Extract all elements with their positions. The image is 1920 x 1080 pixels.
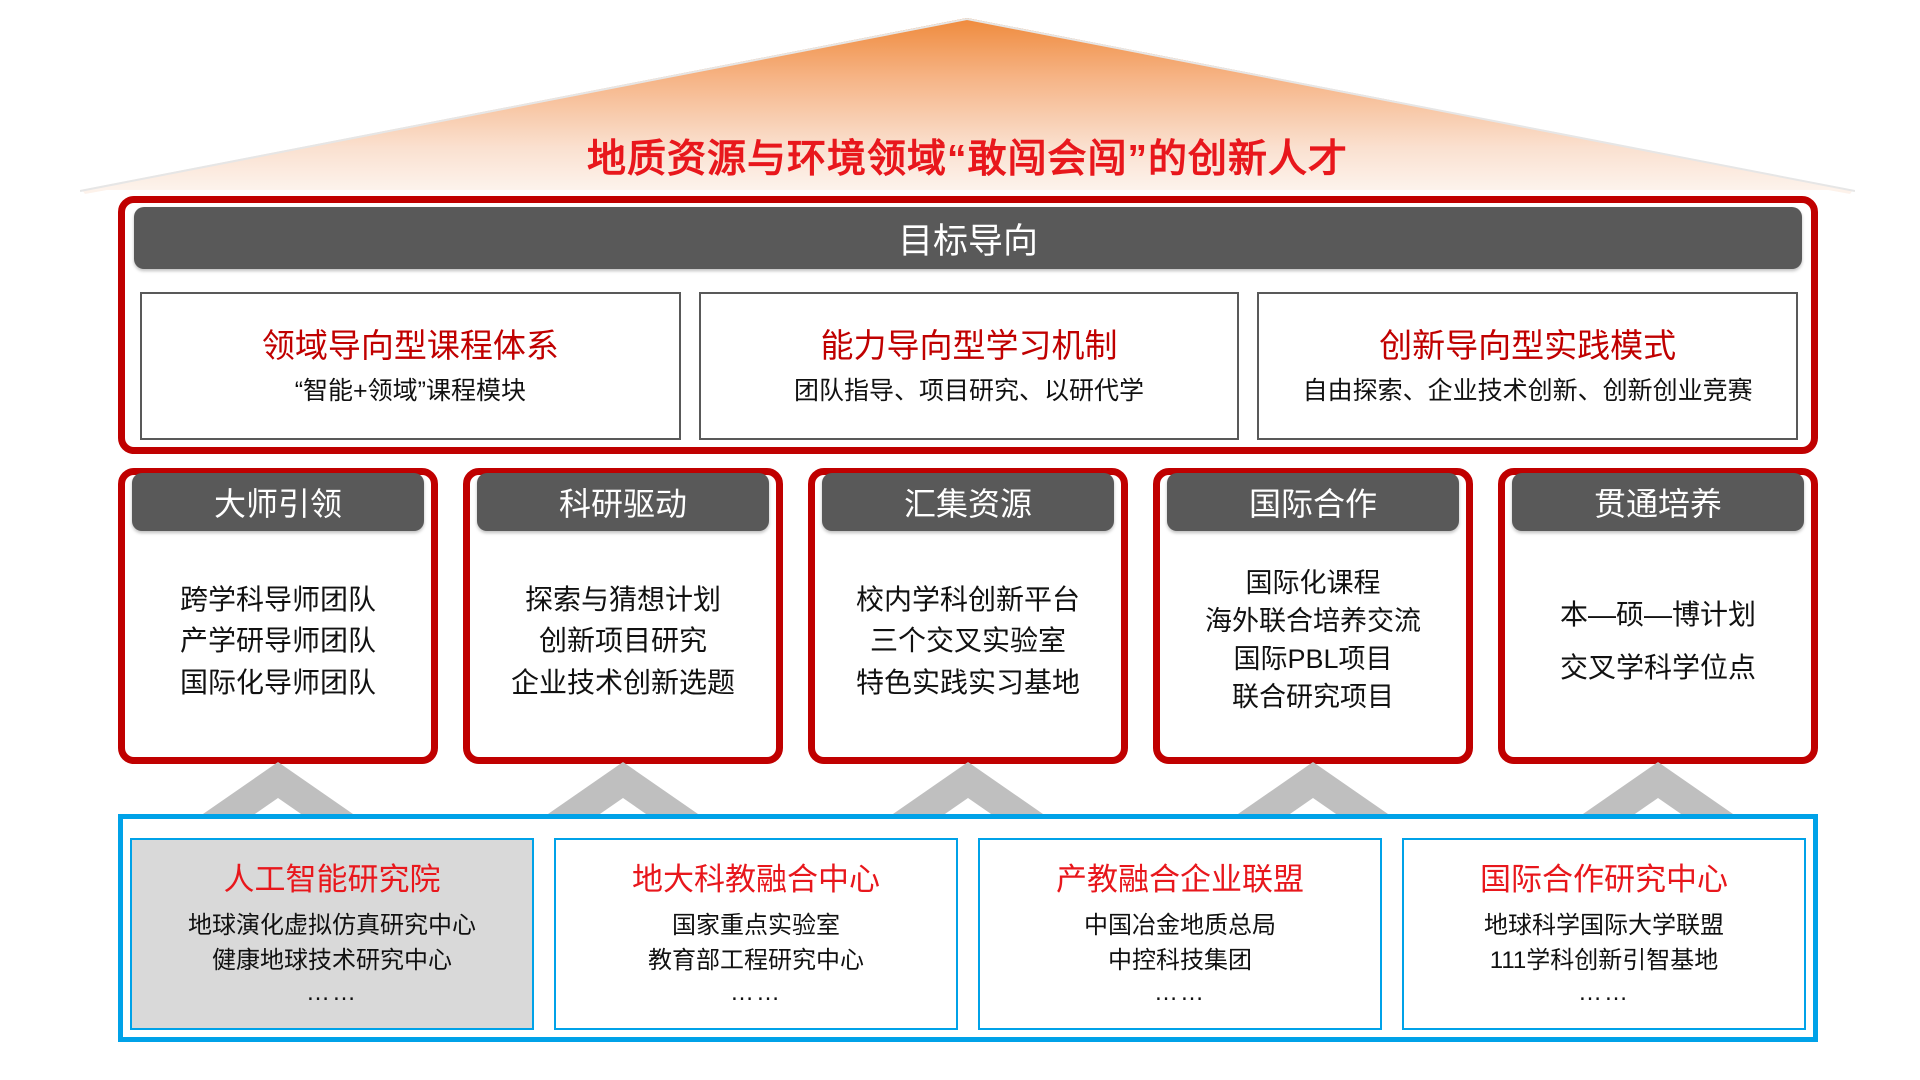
goal-card-subtitle: 自由探索、企业技术创新、创新创业竞赛 [1303,376,1753,407]
platform-card-ellipsis: …… [1578,979,1630,1007]
pillar-line: 特色实践实习基地 [856,662,1080,703]
platform-card-line: 国家重点实验室 [672,910,840,942]
pillar-header: 贯通培养 [1512,473,1804,531]
platform-card-line: 教育部工程研究中心 [648,945,864,977]
pillar-line: 探索与猜想计划 [525,579,721,620]
pillar-line: 企业技术创新选题 [511,662,735,703]
pillar-row: 大师引领 跨学科导师团队 产学研导师团队 国际化导师团队 科研驱动 探索与猜想计… [118,468,1818,764]
diagram-canvas: 地质资源与环境领域“敢闯会闯”的创新人才 目标导向 领域导向型课程体系 “智能+… [0,0,1920,1080]
pillar-resource-aggregation[interactable]: 汇集资源 校内学科创新平台 三个交叉实验室 特色实践实习基地 [808,468,1128,764]
pillar-line: 国际化课程 [1246,565,1381,603]
pillar-line: 校内学科创新平台 [856,579,1080,620]
pillar-research-driven[interactable]: 科研驱动 探索与猜想计划 创新项目研究 企业技术创新选题 [463,468,783,764]
pillar-master-leadership[interactable]: 大师引领 跨学科导师团队 产学研导师团队 国际化导师团队 [118,468,438,764]
goal-card-practice-model[interactable]: 创新导向型实践模式 自由探索、企业技术创新、创新创业竞赛 [1257,292,1798,440]
pillar-body: 探索与猜想计划 创新项目研究 企业技术创新选题 [470,531,776,757]
goal-card-title: 能力导向型学习机制 [821,325,1118,366]
goal-card-subtitle: “智能+领域”课程模块 [295,376,526,407]
pillar-line: 海外联合培养交流 [1205,603,1421,641]
platform-card-international-research-center[interactable]: 国际合作研究中心 地球科学国际大学联盟 111学科创新引智基地 …… [1402,838,1806,1030]
pillar-body: 本—硕—博计划 交叉学科学位点 [1505,531,1811,757]
goal-card-title: 创新导向型实践模式 [1379,325,1676,366]
platform-card-line: 111学科创新引智基地 [1490,945,1718,977]
goal-card-course-system[interactable]: 领域导向型课程体系 “智能+领域”课程模块 [140,292,681,440]
platform-card-line: 中控科技集团 [1108,945,1252,977]
pillar-line: 国际PBL项目 [1233,641,1392,679]
platform-card-line: 中国冶金地质总局 [1084,910,1276,942]
goal-card-row: 领域导向型课程体系 “智能+领域”课程模块 能力导向型学习机制 团队指导、项目研… [140,292,1798,440]
platform-card-title: 国际合作研究中心 [1480,861,1728,898]
platform-card-ellipsis: …… [730,979,782,1007]
pillar-body: 校内学科创新平台 三个交叉实验室 特色实践实习基地 [815,531,1121,757]
pillar-line: 跨学科导师团队 [180,579,376,620]
platform-card-industry-education-alliance[interactable]: 产教融合企业联盟 中国冶金地质总局 中控科技集团 …… [978,838,1382,1030]
platform-card-line: 地球科学国际大学联盟 [1484,910,1724,942]
platform-card-title: 地大科教融合中心 [632,861,880,898]
goal-card-subtitle: 团队指导、项目研究、以研代学 [794,376,1144,407]
pillar-line: 创新项目研究 [539,620,707,661]
pillar-header: 科研驱动 [477,473,769,531]
platform-card-title: 人工智能研究院 [224,861,441,898]
pillar-header: 大师引领 [132,473,424,531]
pillar-international-cooperation[interactable]: 国际合作 国际化课程 海外联合培养交流 国际PBL项目 联合研究项目 [1153,468,1473,764]
platform-card-title: 产教融合企业联盟 [1056,861,1304,898]
platform-card-ai-institute[interactable]: 人工智能研究院 地球演化虚拟仿真研究中心 健康地球技术研究中心 …… [130,838,534,1030]
pillar-line: 产学研导师团队 [180,620,376,661]
platform-card-ellipsis: …… [1154,979,1206,1007]
platform-card-line: 地球演化虚拟仿真研究中心 [188,910,476,942]
pillar-header: 汇集资源 [822,473,1114,531]
pillar-line: 交叉学科学位点 [1560,641,1756,694]
goal-card-title: 领域导向型课程体系 [262,325,559,366]
pillar-body: 国际化课程 海外联合培养交流 国际PBL项目 联合研究项目 [1160,531,1466,757]
pillar-integrated-training[interactable]: 贯通培养 本—硕—博计划 交叉学科学位点 [1498,468,1818,764]
platform-card-line: 健康地球技术研究中心 [212,945,452,977]
roof-title: 地质资源与环境领域“敢闯会闯”的创新人才 [80,128,1855,184]
platform-card-row: 人工智能研究院 地球演化虚拟仿真研究中心 健康地球技术研究中心 …… 地大科教融… [130,838,1806,1030]
platform-card-education-research-center[interactable]: 地大科教融合中心 国家重点实验室 教育部工程研究中心 …… [554,838,958,1030]
pillar-line: 国际化导师团队 [180,662,376,703]
roof-shape: 地质资源与环境领域“敢闯会闯”的创新人才 [80,10,1855,195]
pillar-body: 跨学科导师团队 产学研导师团队 国际化导师团队 [125,531,431,757]
goal-header: 目标导向 [134,207,1802,269]
goal-card-learning-mechanism[interactable]: 能力导向型学习机制 团队指导、项目研究、以研代学 [699,292,1240,440]
pillar-line: 三个交叉实验室 [870,620,1066,661]
pillar-line: 联合研究项目 [1232,679,1394,717]
pillar-header: 国际合作 [1167,473,1459,531]
pillar-line: 本—硕—博计划 [1560,588,1756,641]
platform-card-ellipsis: …… [306,979,358,1007]
